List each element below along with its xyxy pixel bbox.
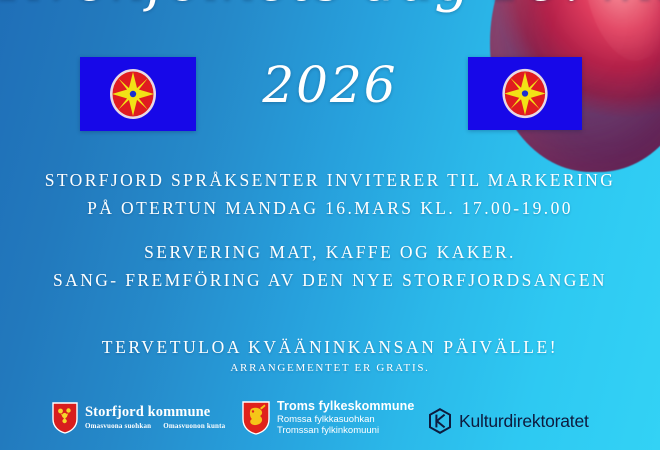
kven-flag-right (468, 57, 582, 130)
logo-storfjord-kommune: Storfjord kommune Omasvuona suohkan Omas… (52, 402, 225, 434)
kven-flag-icon (468, 57, 582, 130)
storfjord-shield-icon (52, 402, 78, 434)
invite-line-1: STORFJORD SPRÅKSENTER INVITERER TIL MARK… (0, 166, 660, 194)
logo-troms-sub-1: Romssa fylkkasuohkan (277, 415, 414, 425)
logo-storfjord-text: Storfjord kommune Omasvuona suohkan Omas… (85, 405, 225, 430)
kven-flag-icon (80, 57, 196, 131)
logo-storfjord-sub-2: Omasvuonon kunta (163, 423, 225, 431)
invite-block: STORFJORD SPRÅKSENTER INVITERER TIL MARK… (0, 166, 660, 223)
welcome-line: TERVETULOA KVÄÄNINKANSAN PÄIVÄLLE! (0, 337, 660, 358)
kulturdirektoratet-mark-icon (428, 408, 452, 434)
serving-line-1: SERVERING MAT, KAFFE OG KAKER. (0, 238, 660, 266)
troms-shield-icon (242, 401, 270, 435)
logo-storfjord-sub-1: Omasvuona suohkan (85, 423, 151, 431)
logo-strip: Storfjord kommune Omasvuona suohkan Omas… (0, 400, 660, 446)
headline-area: Kvenfolkets dag 16. mars (0, 0, 660, 10)
logo-kulturdirektoratet-title: Kulturdirektoratet (459, 411, 589, 432)
serving-block: SERVERING MAT, KAFFE OG KAKER. SANG- FRE… (0, 238, 660, 295)
logo-troms-text: Troms fylkeskommune Romssa fylkkasuohkan… (277, 400, 414, 436)
welcome-block: TERVETULOA KVÄÄNINKANSAN PÄIVÄLLE! (0, 337, 660, 358)
page-title: Kvenfolkets dag 16. mars (0, 0, 660, 10)
poster-canvas: Kvenfolkets dag 16. mars 2026 (0, 0, 660, 450)
serving-line-2: SANG- FREMFÖRING AV DEN NYE STORFJORDSAN… (0, 266, 660, 294)
free-note-block: ARRANGEMENTET ER GRATIS. (0, 362, 660, 374)
free-note-line: ARRANGEMENTET ER GRATIS. (0, 362, 660, 374)
invite-line-2: PÅ OTERTUN MANDAG 16.MARS KL. 17.00-19.0… (0, 194, 660, 222)
logo-storfjord-title: Storfjord kommune (85, 405, 225, 421)
logo-troms-sub-2: Tromssan fylkinkomuuni (277, 426, 414, 436)
logo-kulturdirektoratet: Kulturdirektoratet (428, 408, 589, 434)
logo-troms-fylkeskommune: Troms fylkeskommune Romssa fylkkasuohkan… (242, 400, 414, 436)
kven-flag-left (80, 57, 196, 131)
logo-storfjord-subs: Omasvuona suohkan Omasvuonon kunta (85, 423, 225, 431)
logo-troms-title: Troms fylkeskommune (277, 400, 414, 414)
